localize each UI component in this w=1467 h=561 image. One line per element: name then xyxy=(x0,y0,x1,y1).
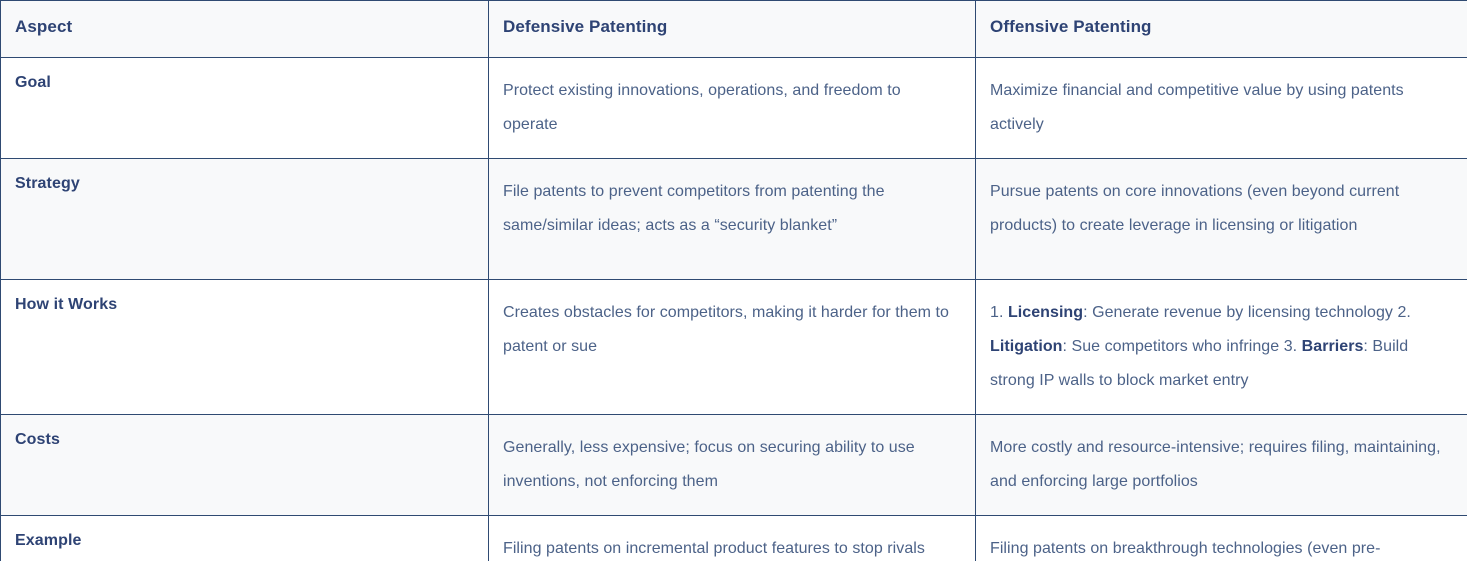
comparison-table-container: Aspect Defensive Patenting Offensive Pat… xyxy=(0,0,1467,561)
row-label-strategy: Strategy xyxy=(1,159,489,280)
cell-costs-defensive: Generally, less expensive; focus on secu… xyxy=(489,415,976,516)
column-header-defensive-patenting: Defensive Patenting xyxy=(489,1,976,58)
cell-how-it-works-offensive: 1. Licensing: Generate revenue by licens… xyxy=(976,280,1467,415)
cell-example-defensive: Filing patents on incremental product fe… xyxy=(489,516,976,561)
row-label-costs: Costs xyxy=(1,415,489,516)
cell-goal-defensive: Protect existing innovations, operations… xyxy=(489,58,976,159)
cell-how-it-works-defensive: Creates obstacles for competitors, makin… xyxy=(489,280,976,415)
table-row: How it Works Creates obstacles for compe… xyxy=(1,280,1467,415)
cell-strategy-offensive: Pursue patents on core innovations (even… xyxy=(976,159,1467,280)
row-label-goal: Goal xyxy=(1,58,489,159)
table-row: Example Filing patents on incremental pr… xyxy=(1,516,1467,561)
table-row: Goal Protect existing innovations, opera… xyxy=(1,58,1467,159)
table-header: Aspect Defensive Patenting Offensive Pat… xyxy=(1,1,1467,58)
cell-strategy-defensive: File patents to prevent competitors from… xyxy=(489,159,976,280)
table-row: Strategy File patents to prevent competi… xyxy=(1,159,1467,280)
cell-goal-offensive: Maximize financial and competitive value… xyxy=(976,58,1467,159)
table-row: Costs Generally, less expensive; focus o… xyxy=(1,415,1467,516)
comparison-table: Aspect Defensive Patenting Offensive Pat… xyxy=(0,0,1467,561)
row-label-how-it-works: How it Works xyxy=(1,280,489,415)
table-header-row: Aspect Defensive Patenting Offensive Pat… xyxy=(1,1,1467,58)
cell-costs-offensive: More costly and resource-intensive; requ… xyxy=(976,415,1467,516)
column-header-aspect: Aspect xyxy=(1,1,489,58)
cell-example-offensive: Filing patents on breakthrough technolog… xyxy=(976,516,1467,561)
column-header-offensive-patenting: Offensive Patenting xyxy=(976,1,1467,58)
row-label-example: Example xyxy=(1,516,489,561)
table-body: Goal Protect existing innovations, opera… xyxy=(1,58,1467,561)
